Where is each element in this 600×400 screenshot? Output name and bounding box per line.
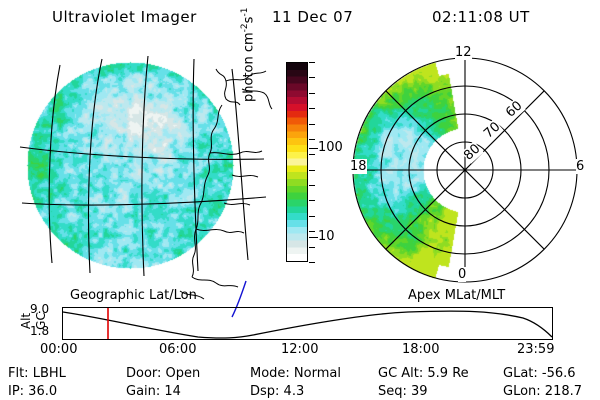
orbit-altitude-panel: Geographic Lat/Lon Apex MLat/MLT GC Alt … — [0, 288, 600, 356]
colorbar-gradient — [286, 62, 308, 262]
colorbar-tick — [309, 154, 315, 155]
polar-label-mlt-12: 12 — [455, 45, 472, 60]
page-title: Ultraviolet Imager — [52, 8, 197, 26]
polar-mlt-panel: 12 6 0 18 60 70 80 — [350, 55, 580, 285]
colorbar-major-tick — [309, 148, 318, 149]
observation-date: 11 Dec 07 — [272, 8, 353, 26]
colorbar-tick — [309, 124, 315, 125]
orbit-plot-frame — [62, 307, 553, 340]
orbit-xtick-1800: 18:00 — [402, 342, 439, 357]
status-field-ip: IP: 36.0 — [8, 384, 126, 399]
colorbar-tick — [309, 200, 315, 201]
graticule-lines — [20, 56, 266, 276]
colorbar-tick-label-100: 100 — [318, 141, 343, 154]
status-field-glat: GLat: -56.6 — [503, 366, 576, 381]
colorbar-tick — [309, 247, 315, 248]
polar-label-mlt-0: 0 — [458, 267, 466, 282]
status-field-seq: Seq: 39 — [378, 384, 503, 399]
colorbar-axis-label: photon cm-2s-1 — [240, 0, 256, 102]
orbit-ytick-9: 9.0 — [30, 302, 49, 316]
colorbar-unit-sup1: -2 — [240, 23, 250, 32]
colorbar-tick — [309, 108, 315, 109]
status-block: Flt: LBHLDoor: OpenMode: NormalGC Alt: 5… — [8, 366, 596, 399]
colorbar-unit-sup2: -1 — [240, 8, 250, 17]
colorbar-tick-label-10: 10 — [318, 230, 335, 243]
orbit-altitude-trace — [63, 311, 552, 338]
status-field-door: Door: Open — [126, 366, 250, 381]
orbit-xtick-0000: 00:00 — [40, 342, 77, 357]
orbit-xtick-0600: 06:00 — [159, 342, 196, 357]
polar-label-mlt-6: 6 — [576, 159, 584, 174]
status-row: IP: 36.0Gain: 14Dsp: 4.3Seq: 39GLon: 218… — [8, 384, 596, 399]
colorbar-tick — [309, 77, 315, 78]
orbit-trace-svg — [63, 308, 552, 339]
orbit-xtick-1200: 12:00 — [281, 342, 318, 357]
polar-grid-overlay — [350, 55, 580, 285]
status-field-flt: Flt: LBHL — [8, 366, 126, 381]
colorbar-tick — [309, 262, 315, 263]
colorbar-tick — [309, 185, 315, 186]
observation-time: 02:11:08 UT — [432, 8, 530, 26]
status-field-dsp: Dsp: 4.3 — [250, 384, 378, 399]
colorbar-major-tick — [309, 237, 318, 238]
polar-panel-caption: Apex MLat/MLT — [408, 288, 505, 303]
geographic-image-panel — [20, 55, 240, 275]
status-field-gain: Gain: 14 — [126, 384, 250, 399]
colorbar-tick — [309, 139, 315, 140]
colorbar-tick — [309, 170, 315, 171]
geographic-panel-caption: Geographic Lat/Lon — [70, 288, 197, 303]
colorbar-tick — [309, 216, 315, 217]
colorbar-panel: 10010 photon cm-2s-1 — [286, 62, 308, 262]
status-field-mode: Mode: Normal — [250, 366, 378, 381]
status-field-gc-alt: GC Alt: 5.9 Re — [378, 366, 503, 381]
status-row: Flt: LBHLDoor: OpenMode: NormalGC Alt: 5… — [8, 366, 596, 381]
status-field-glon: GLon: 218.7 — [503, 384, 582, 399]
colorbar-unit-main: photon cm — [241, 32, 256, 102]
colorbar-unit-mid: s — [241, 17, 256, 24]
orbit-ytick-1p8: 1.8 — [30, 324, 49, 338]
orbit-xtick-2359: 23:59 — [517, 342, 554, 357]
colorbar-tick — [309, 62, 315, 63]
colorbar-tick — [309, 93, 315, 94]
polar-label-mlt-18: 18 — [350, 159, 367, 174]
colorbar-tick — [309, 231, 315, 232]
